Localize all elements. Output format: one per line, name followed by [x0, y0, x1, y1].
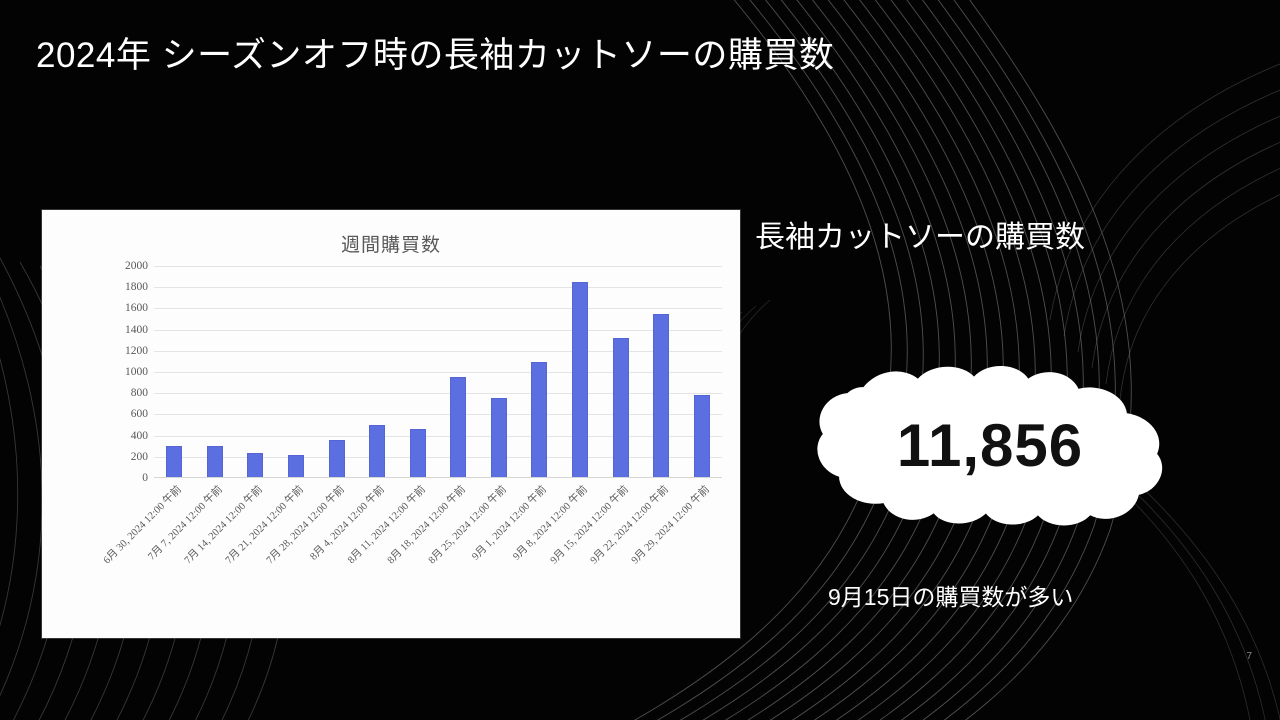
bar[interactable] — [166, 446, 182, 477]
bar[interactable] — [450, 377, 466, 477]
chart-plot-wrapper: 2000180016001400120010008006004002000 6月… — [42, 266, 740, 638]
page-title: 2024年 シーズンオフ時の長袖カットソーの購買数 — [36, 34, 834, 78]
bar-slot — [195, 265, 236, 477]
page-number: 7 — [1246, 651, 1252, 662]
chart-card: 週間購買数 2000180016001400120010008006004002… — [42, 210, 740, 638]
y-axis-tick: 800 — [100, 387, 148, 399]
bar-slot — [154, 265, 195, 477]
chart-title: 週間購買数 — [42, 230, 740, 257]
bar-slot — [479, 265, 520, 477]
total-value: 11,856 — [812, 364, 1168, 526]
bar-slot — [397, 265, 438, 477]
y-axis-tick: 1200 — [100, 345, 148, 357]
bar[interactable] — [329, 440, 345, 477]
y-axis-tick: 600 — [100, 408, 148, 420]
bar[interactable] — [653, 314, 669, 477]
bar-slot — [357, 265, 398, 477]
slide-root: 2024年 シーズンオフ時の長袖カットソーの購買数 週間購買数 20001800… — [0, 0, 1280, 720]
bar-slot — [519, 265, 560, 477]
y-axis-tick: 400 — [100, 430, 148, 442]
total-value-badge: 11,856 — [812, 364, 1168, 526]
bar[interactable] — [491, 398, 507, 477]
bar-slot — [316, 265, 357, 477]
bar-slot — [641, 265, 682, 477]
bar-series — [154, 265, 722, 477]
x-axis-tick-labels: 6月 30, 2024 12:00 午前7月 7, 2024 12:00 午前7… — [154, 480, 722, 630]
y-axis-tick: 1000 — [100, 366, 148, 378]
bar[interactable] — [572, 282, 588, 477]
y-axis-tick: 2000 — [100, 260, 148, 272]
x-axis-tick: 9月 29, 2024 12:00 午前 — [627, 482, 712, 567]
y-axis-tick: 1600 — [100, 302, 148, 314]
bar[interactable] — [613, 338, 629, 477]
bar[interactable] — [369, 425, 385, 477]
plot-area — [154, 266, 722, 478]
right-panel-heading: 長袖カットソーの購買数 — [755, 212, 1085, 256]
bar[interactable] — [694, 395, 710, 477]
bar[interactable] — [531, 362, 547, 477]
insight-caption: 9月15日の購買数が多い — [828, 578, 1073, 612]
y-axis-tick: 1400 — [100, 324, 148, 336]
bar-slot — [235, 265, 276, 477]
y-axis-tick: 0 — [100, 472, 148, 484]
bar[interactable] — [410, 429, 426, 477]
bar[interactable] — [207, 446, 223, 477]
bar-slot — [560, 265, 601, 477]
y-axis-tick: 1800 — [100, 281, 148, 293]
bar[interactable] — [247, 453, 263, 477]
bar-slot — [600, 265, 641, 477]
y-axis-tick-labels: 2000180016001400120010008006004002000 — [100, 266, 148, 478]
bar[interactable] — [288, 455, 304, 477]
bar-slot — [438, 265, 479, 477]
bar-slot — [682, 265, 723, 477]
y-axis-tick: 200 — [100, 451, 148, 463]
bar-slot — [276, 265, 317, 477]
